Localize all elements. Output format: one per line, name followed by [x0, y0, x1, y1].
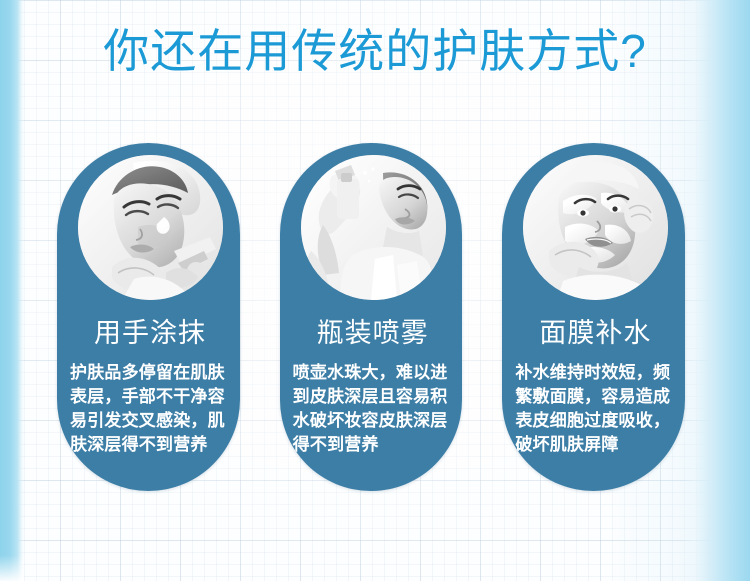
card-description: 喷壶水珠大，难以进到皮肤深层且容易积水破坏妆容皮肤深层得不到营养 — [293, 361, 455, 457]
card-description: 补水维持时效短，频繁敷面膜，容易造成表皮细胞过度吸收，破坏肌肤屏障 — [515, 361, 677, 457]
left-edge-band-fade — [0, 555, 24, 581]
card-bottle-spray[interactable]: 瓶装喷雾 喷壶水珠大，难以进到皮肤深层且容易积水破坏妆容皮肤深层得不到营养 — [280, 143, 463, 491]
left-edge-blue-band — [0, 0, 24, 581]
card-title: 面膜补水 — [502, 319, 685, 349]
comparison-card-row: 用手涂抹 护肤品多停留在肌肤表层，手部不干净容易引发交叉感染，肌肤深层得不到营养 — [57, 143, 685, 491]
card-hand-application[interactable]: 用手涂抹 护肤品多停留在肌肤表层，手部不干净容易引发交叉感染，肌肤深层得不到营养 — [57, 143, 240, 491]
woman-applying-facial-mask-photo — [523, 155, 668, 300]
right-edge-blue-band — [682, 0, 750, 581]
card-photo-frame — [523, 155, 668, 300]
woman-using-bottle-spray-mist-photo — [301, 155, 446, 300]
page-title: 你还在用传统的护肤方式? — [0, 26, 750, 78]
card-title: 用手涂抹 — [57, 319, 240, 349]
card-title: 瓶装喷雾 — [280, 319, 463, 349]
card-description: 护肤品多停留在肌肤表层，手部不干净容易引发交叉感染，肌肤深层得不到营养 — [70, 361, 232, 457]
card-facial-mask[interactable]: 面膜补水 补水维持时效短，频繁敷面膜，容易造成表皮细胞过度吸收，破坏肌肤屏障 — [502, 143, 685, 491]
advertisement-poster: 你还在用传统的护肤方式? — [0, 0, 750, 581]
woman-applying-serum-by-hand-photo — [78, 155, 223, 300]
card-photo-frame — [301, 155, 446, 300]
card-photo-frame — [78, 155, 223, 300]
